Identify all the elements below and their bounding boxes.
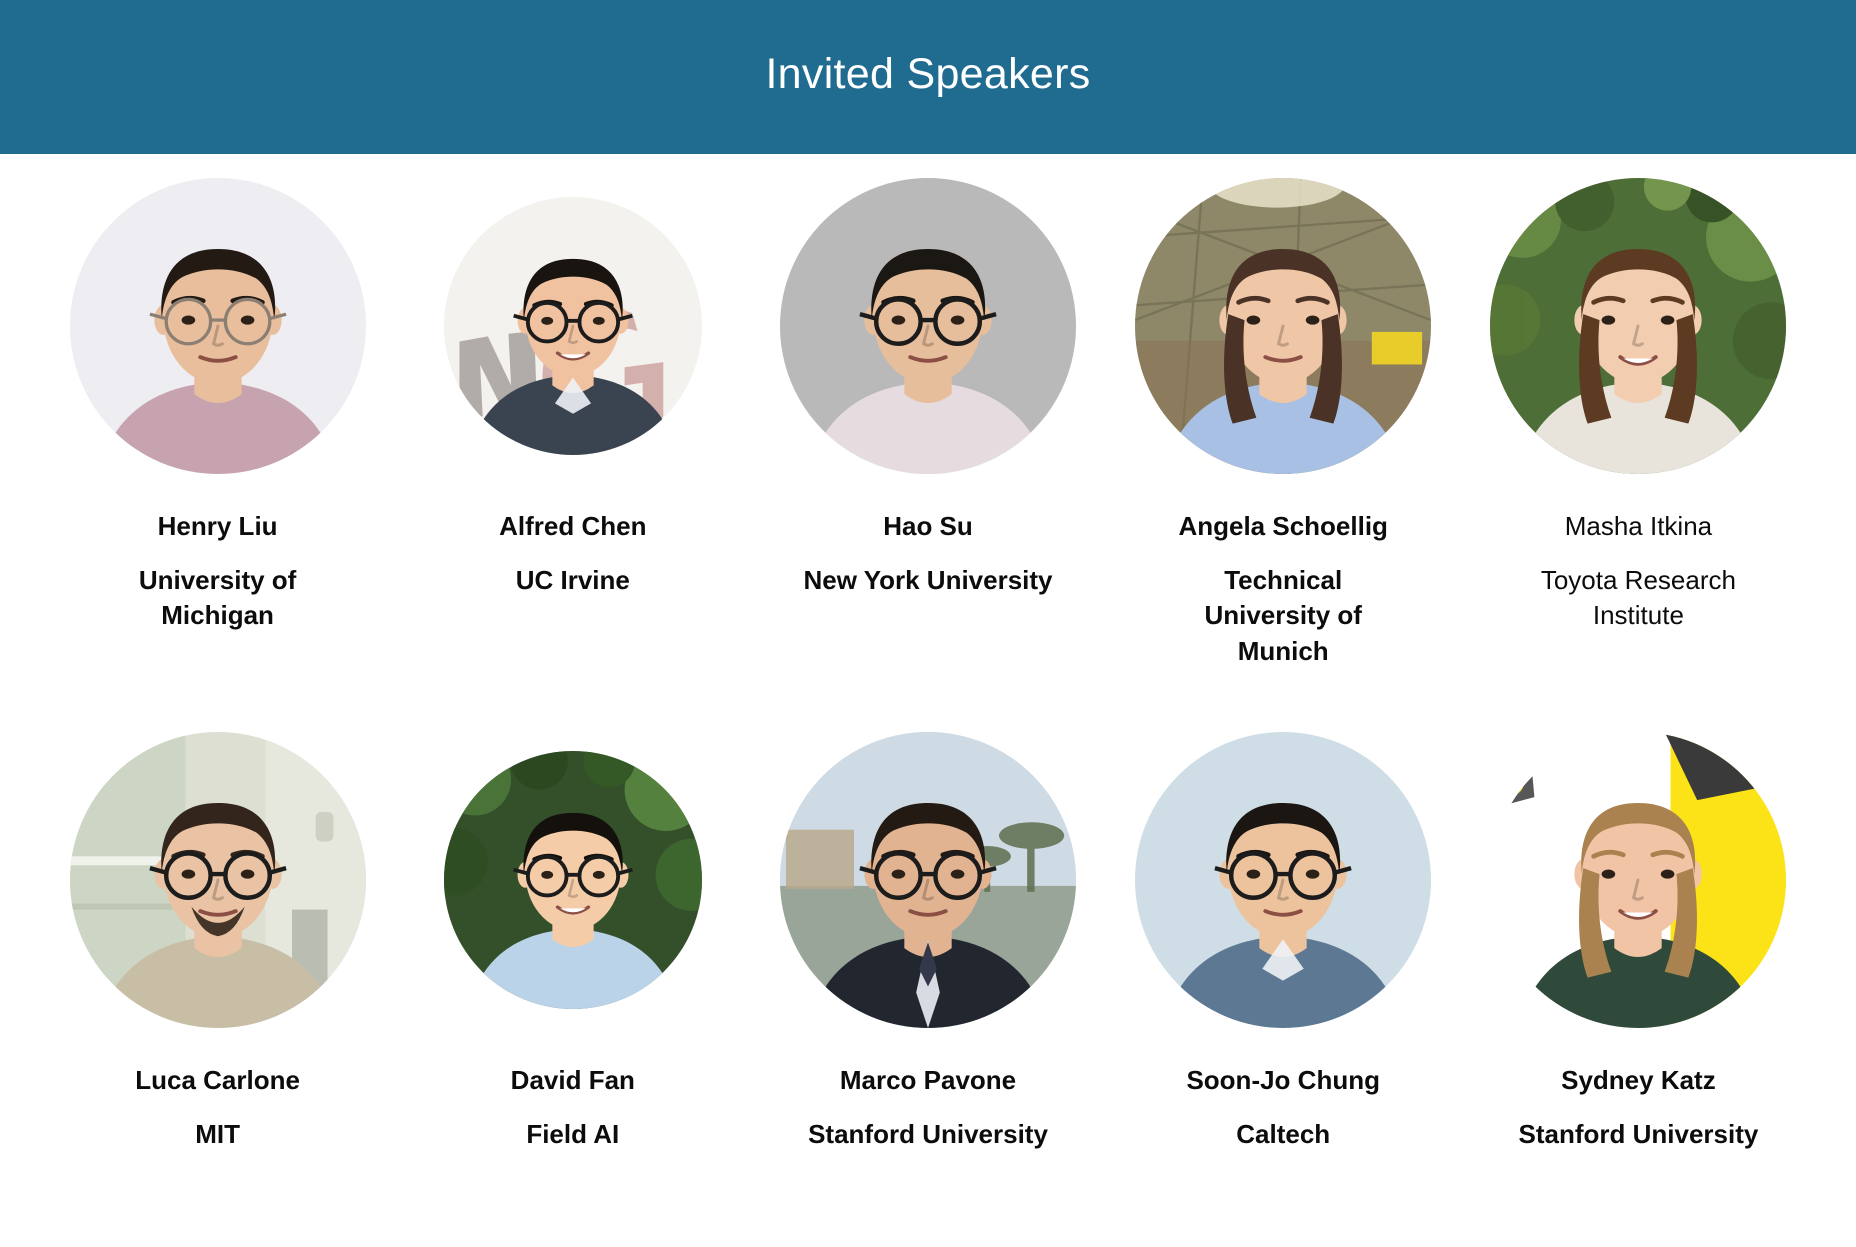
speaker-name: Soon-Jo Chung bbox=[1186, 1064, 1380, 1097]
speaker-affiliation: Toyota Research Institute bbox=[1513, 563, 1763, 635]
portrait-hao-su bbox=[780, 178, 1076, 474]
speaker-affiliation: Stanford University bbox=[808, 1117, 1048, 1153]
portrait-soon-jo-chung bbox=[1135, 732, 1431, 1028]
speaker-affiliation: Caltech bbox=[1236, 1117, 1330, 1153]
speaker-photo-wrap bbox=[423, 176, 723, 476]
invited-speakers-page: Invited Speakers bbox=[0, 0, 1856, 1247]
speaker-card: Henry LiuUniversity of Michigan bbox=[40, 176, 395, 670]
speaker-affiliation: University of Michigan bbox=[93, 563, 343, 635]
speaker-name: Henry Liu bbox=[158, 510, 278, 543]
speaker-avatar bbox=[1490, 732, 1786, 1028]
speaker-name: Sydney Katz bbox=[1561, 1064, 1716, 1097]
speakers-row-1: Henry LiuUniversity of Michigan bbox=[40, 176, 1816, 670]
speaker-affiliation: MIT bbox=[195, 1117, 240, 1153]
speaker-avatar bbox=[780, 178, 1076, 474]
speaker-photo-wrap bbox=[68, 730, 368, 1030]
portrait-masha-itkina bbox=[1490, 178, 1786, 474]
speaker-avatar bbox=[1490, 178, 1786, 474]
portrait-angela-schoellig bbox=[1135, 178, 1431, 474]
speaker-avatar bbox=[444, 751, 702, 1009]
speaker-avatar bbox=[1135, 732, 1431, 1028]
speaker-avatar bbox=[1135, 178, 1431, 474]
page-title: Invited Speakers bbox=[765, 53, 1090, 102]
speaker-affiliation: Stanford University bbox=[1519, 1117, 1759, 1153]
speaker-photo-wrap bbox=[423, 730, 723, 1030]
speaker-card: David FanField AI bbox=[395, 730, 750, 1152]
speaker-name: Angela Schoellig bbox=[1178, 510, 1388, 543]
speakers-row-2: Luca CarloneMIT bbox=[40, 730, 1816, 1152]
speaker-photo-wrap bbox=[1488, 176, 1788, 476]
portrait-david-fan bbox=[444, 751, 702, 1009]
speaker-photo-wrap bbox=[778, 176, 1078, 476]
portrait-marco-pavone bbox=[780, 732, 1076, 1028]
speaker-card: Marco PavoneStanford University bbox=[750, 730, 1105, 1152]
speaker-avatar bbox=[70, 178, 366, 474]
portrait-sydney-katz bbox=[1490, 732, 1786, 1028]
page-header-banner: Invited Speakers bbox=[0, 0, 1856, 154]
speaker-card: Masha ItkinaToyota Research Institute bbox=[1461, 176, 1816, 670]
portrait-henry-liu bbox=[70, 178, 366, 474]
speaker-card: Angela SchoelligTechnical University of … bbox=[1106, 176, 1461, 670]
speaker-avatar bbox=[780, 732, 1076, 1028]
speaker-card: Soon-Jo ChungCaltech bbox=[1106, 730, 1461, 1152]
speaker-card: Luca CarloneMIT bbox=[40, 730, 395, 1152]
speaker-photo-wrap bbox=[1133, 176, 1433, 476]
speaker-card: Alfred ChenUC Irvine bbox=[395, 176, 750, 670]
speaker-name: Alfred Chen bbox=[499, 510, 646, 543]
speaker-name: Hao Su bbox=[883, 510, 973, 543]
speaker-avatar bbox=[70, 732, 366, 1028]
speaker-photo-wrap bbox=[68, 176, 368, 476]
speaker-card: Sydney KatzStanford University bbox=[1461, 730, 1816, 1152]
speaker-photo-wrap bbox=[1133, 730, 1433, 1030]
speakers-grid: Henry LiuUniversity of Michigan bbox=[0, 176, 1856, 1153]
speaker-name: Masha Itkina bbox=[1565, 510, 1712, 543]
speaker-photo-wrap bbox=[1488, 730, 1788, 1030]
speaker-name: Luca Carlone bbox=[135, 1064, 300, 1097]
portrait-luca-carlone bbox=[70, 732, 366, 1028]
speaker-name: Marco Pavone bbox=[840, 1064, 1016, 1097]
speaker-photo-wrap bbox=[778, 730, 1078, 1030]
speaker-affiliation: Field AI bbox=[526, 1117, 619, 1153]
speaker-affiliation: Technical University of Munich bbox=[1158, 563, 1408, 671]
speaker-affiliation: New York University bbox=[803, 563, 1052, 599]
speaker-affiliation: UC Irvine bbox=[516, 563, 630, 599]
speaker-avatar bbox=[444, 197, 702, 455]
portrait-alfred-chen bbox=[444, 197, 702, 455]
speaker-card: Hao SuNew York University bbox=[750, 176, 1105, 670]
speaker-name: David Fan bbox=[511, 1064, 635, 1097]
